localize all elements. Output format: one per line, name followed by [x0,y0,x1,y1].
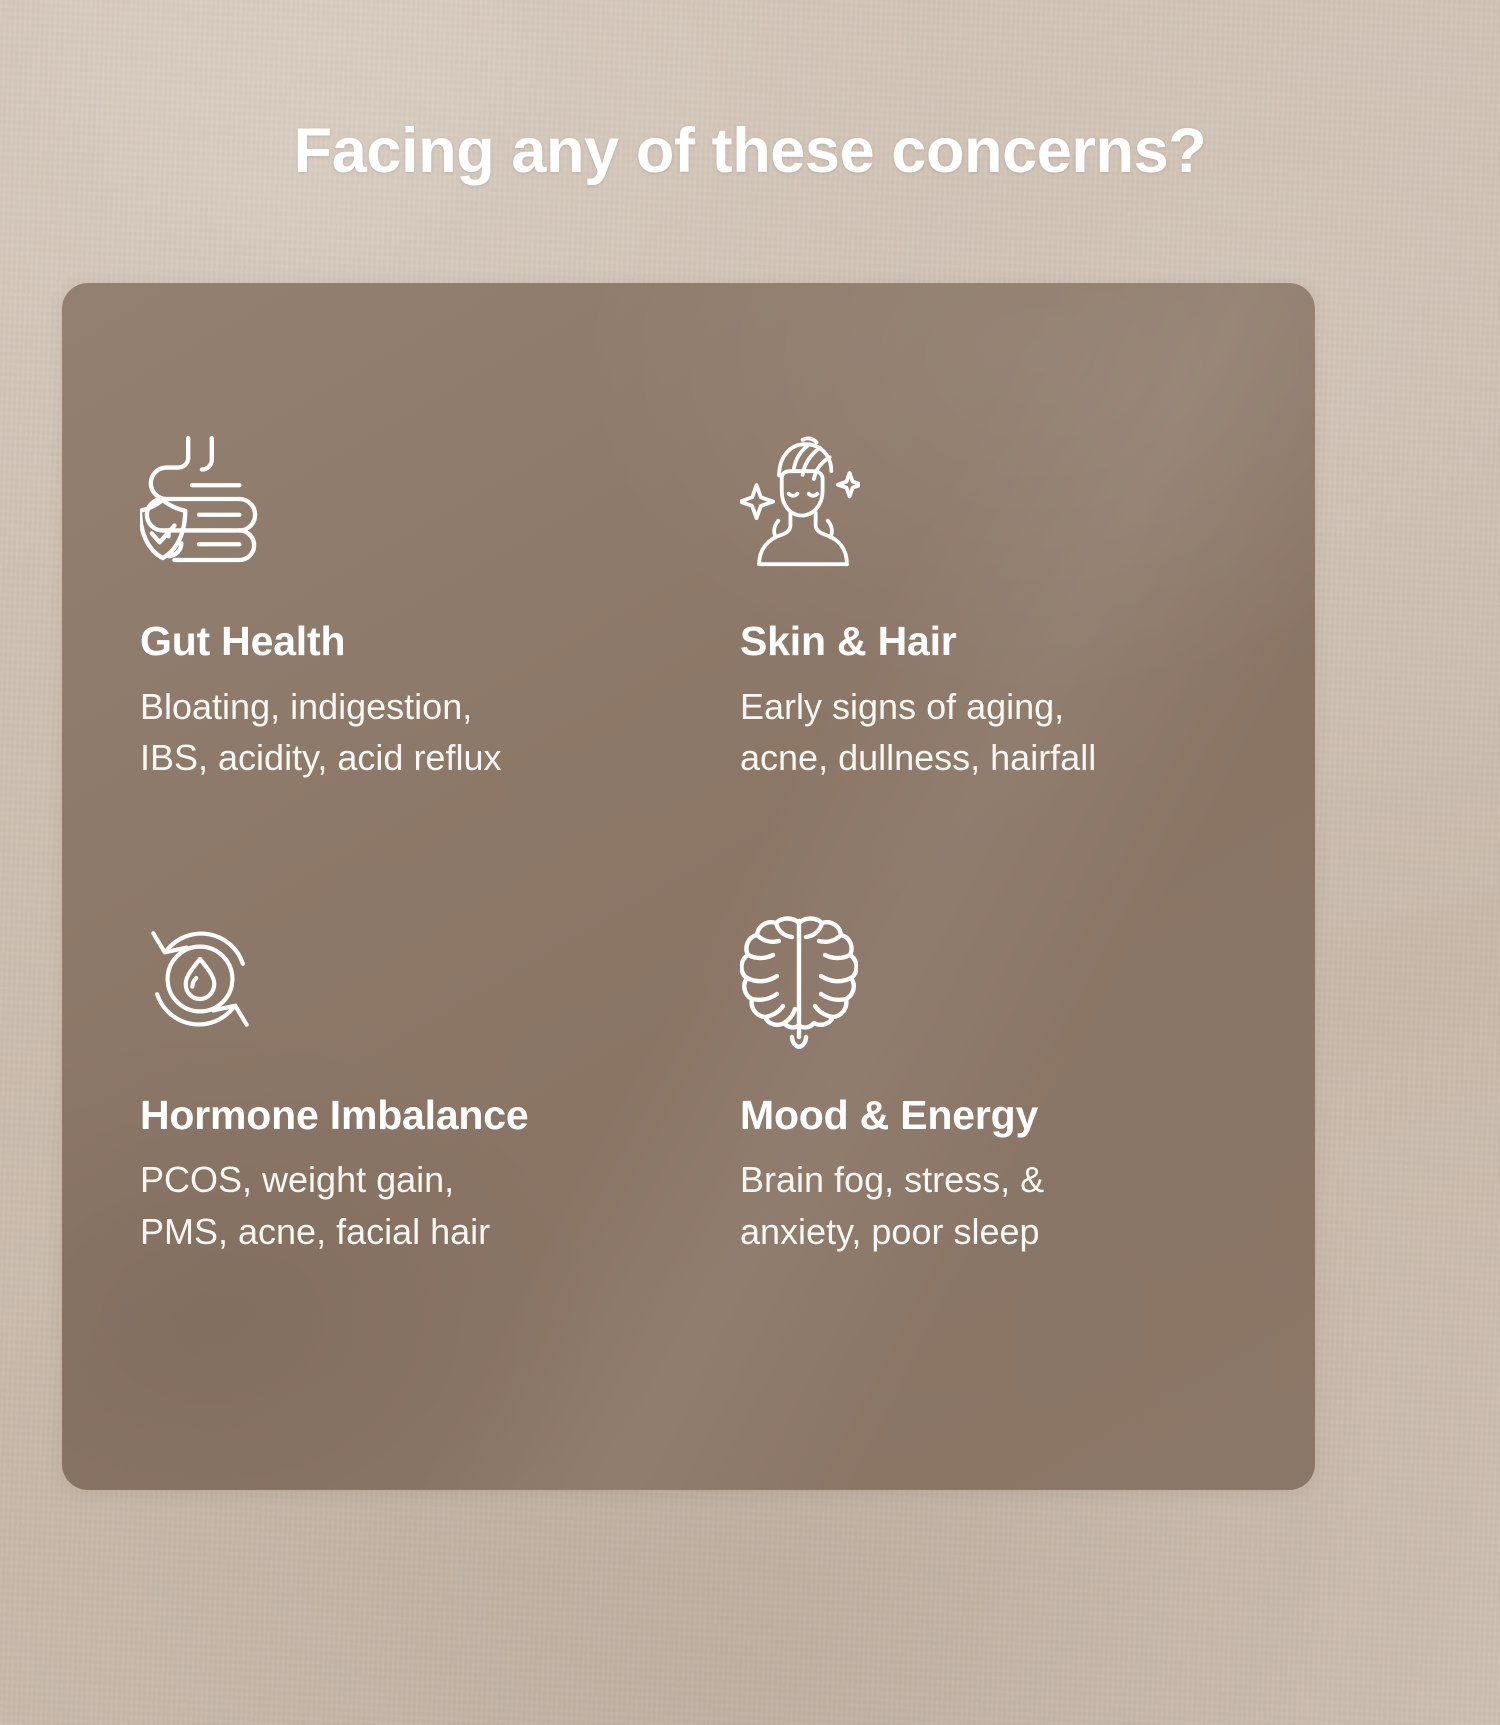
concern-card-skin-hair: Skin & Hair Early signs of aging, acne, … [740,423,1315,897]
concerns-panel: Gut Health Bloating, indigestion, IBS, a… [62,283,1315,1490]
page-title: Facing any of these concerns? [0,118,1500,185]
concern-description-line-1: Brain fog, stress, & [740,1159,1044,1200]
concern-description: PCOS, weight gain, PMS, acne, facial hai… [140,1154,680,1256]
brain-icon [740,897,860,1049]
woman-towel-wrap-sparkle-icon [740,423,860,575]
concern-title: Hormone Imbalance [140,1093,740,1139]
concern-description-line-2: PMS, acne, facial hair [140,1206,680,1257]
concern-description-line-2: IBS, acidity, acid reflux [140,732,680,783]
droplet-cycle-arrows-icon [140,897,260,1049]
concern-description: Early signs of aging, acne, dullness, ha… [740,681,1280,783]
concern-description-line-2: anxiety, poor sleep [740,1206,1280,1257]
promo-card-root: Facing any of these concerns? [0,0,1500,1725]
concern-card-gut-health: Gut Health Bloating, indigestion, IBS, a… [140,423,740,897]
concern-description-line-1: Early signs of aging, [740,686,1064,727]
concern-description-line-1: PCOS, weight gain, [140,1159,454,1200]
concern-title: Gut Health [140,619,740,665]
concerns-grid: Gut Health Bloating, indigestion, IBS, a… [62,283,1315,1490]
concern-description-line-1: Bloating, indigestion, [140,686,472,727]
concern-card-hormone-imbalance: Hormone Imbalance PCOS, weight gain, PMS… [140,897,740,1371]
intestines-shield-check-icon [140,423,260,575]
concern-description: Brain fog, stress, & anxiety, poor sleep [740,1154,1280,1256]
concern-title: Mood & Energy [740,1093,1315,1139]
concern-title: Skin & Hair [740,619,1315,665]
concern-card-mood-energy: Mood & Energy Brain fog, stress, & anxie… [740,897,1315,1371]
concern-description: Bloating, indigestion, IBS, acidity, aci… [140,681,680,783]
concern-description-line-2: acne, dullness, hairfall [740,732,1280,783]
